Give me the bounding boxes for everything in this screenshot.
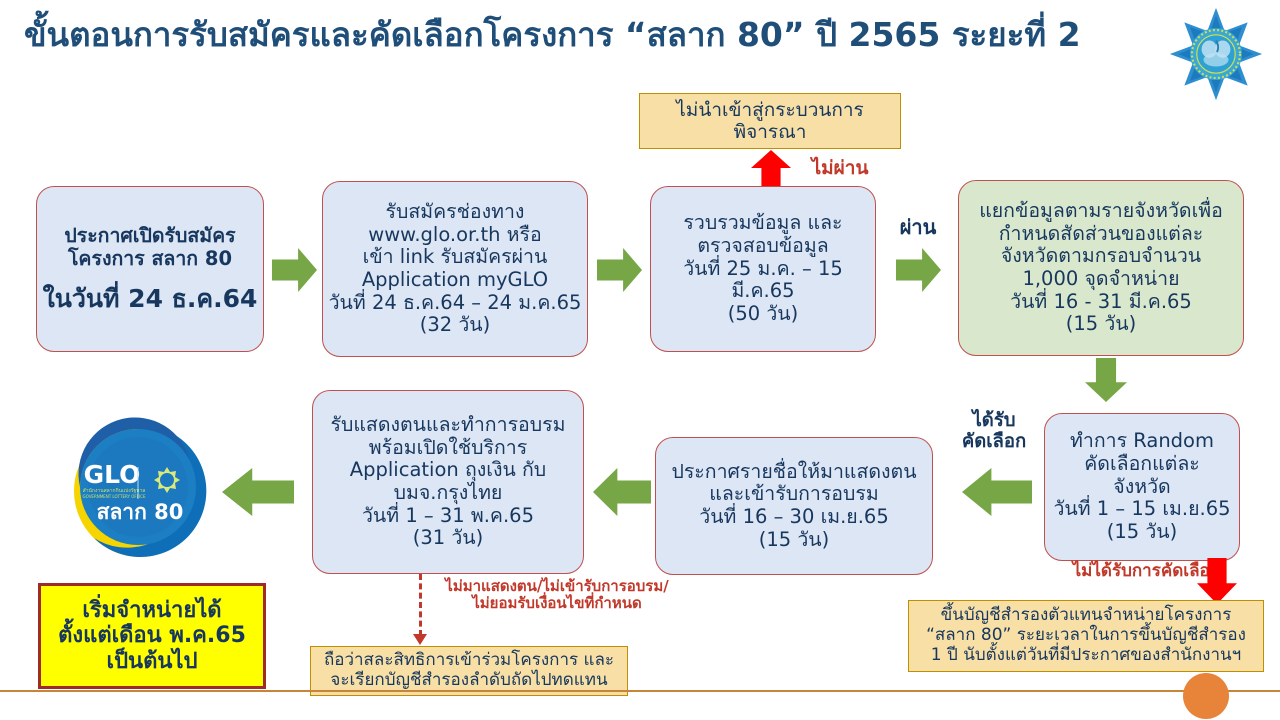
box-announce-names: ประกาศรายชื่อให้มาแสดงตน และเข้ารับการอบ… [655, 437, 933, 575]
glo-brand-text: GLO [84, 460, 141, 489]
box-identify-train: รับแสดงตนและทำการอบรม พร้อมเปิดใช้บริการ… [312, 390, 584, 574]
box-province-split: แยกข้อมูลตามรายจังหวัดเพื่อ กำหนดสัดส่วน… [958, 180, 1244, 356]
box-reserve-list: ขึ้นบัญชีสำรองตัวแทนจำหน่ายโครงการ “สลาก… [908, 600, 1264, 672]
glo-tagline-en: GOVERNMENT LOTTERY OFFICE [83, 494, 146, 499]
arrow-announce-names-to-identify [593, 468, 651, 516]
box-random-select: ทำการ Random คัดเลือกแต่ละ จังหวัด วันที… [1044, 413, 1240, 561]
dashed-connector-arrowhead [413, 634, 427, 645]
arrow-apply-to-collect [597, 248, 642, 292]
box-forfeit-right: ถือว่าสละสิทธิการเข้าร่วมโครงการ และ จะเ… [310, 646, 628, 696]
arrow-identify-to-logo [222, 468, 294, 516]
glo-slak80-logo: GLO สำนักงานสลากกินแบ่งรัฐบาล GOVERNMENT… [60, 415, 220, 565]
government-lottery-office-crest [1168, 6, 1264, 102]
label-fail: ไม่ผ่าน [795, 158, 885, 180]
label-pass: ผ่าน [878, 216, 958, 239]
box-announce-open-date: ในวันที่ 24 ธ.ค.64 [43, 284, 258, 313]
box-start-selling: เริ่มจำหน่ายได้ ตั้งแต่เดือน พ.ค.65 เป็น… [38, 583, 266, 689]
box-announce-open-text: ประกาศเปิดรับสมัคร โครงการ สลาก 80 [64, 225, 235, 270]
slide-canvas: ขั้นตอนการรับสมัครและคัดเลือกโครงการ “สล… [0, 0, 1280, 720]
label-no-show: ไม่มาแสดงตน/ไม่เข้ารับการอบรม/ ไม่ยอมรับ… [432, 578, 682, 613]
box-apply-channel: รับสมัครช่องทาง www.glo.or.th หรือ เข้า … [322, 181, 588, 357]
box-collect-verify: รวบรวมข้อมูล และ ตรวจสอบข้อมูล วันที่ 25… [650, 186, 876, 352]
arrow-random-to-announce-names [962, 468, 1032, 516]
arrow-collect-to-notconsidered [751, 150, 791, 190]
arrow-announce-to-apply [272, 248, 317, 292]
label-selected: ได้รับ คัดเลือก [944, 410, 1044, 453]
arrow-province-to-random [1085, 358, 1127, 402]
label-not-selected: ไม่ได้รับการคัดเลือก [1030, 562, 1220, 582]
glo-product-text: สลาก 80 [97, 500, 184, 524]
arrow-collect-to-province [896, 248, 941, 292]
box-announce-open: ประกาศเปิดรับสมัคร โครงการ สลาก 80 ในวัน… [36, 186, 264, 352]
glo-tagline-th: สำนักงานสลากกินแบ่งรัฐบาล [83, 487, 146, 494]
box-not-considered: ไม่นำเข้าสู่กระบวนการพิจารณา [639, 93, 901, 149]
footer-dot [1183, 673, 1229, 719]
footer-rule [0, 690, 1280, 692]
page-title: ขั้นตอนการรับสมัครและคัดเลือกโครงการ “สล… [24, 14, 1144, 55]
dashed-connector-forfeit [419, 574, 422, 636]
